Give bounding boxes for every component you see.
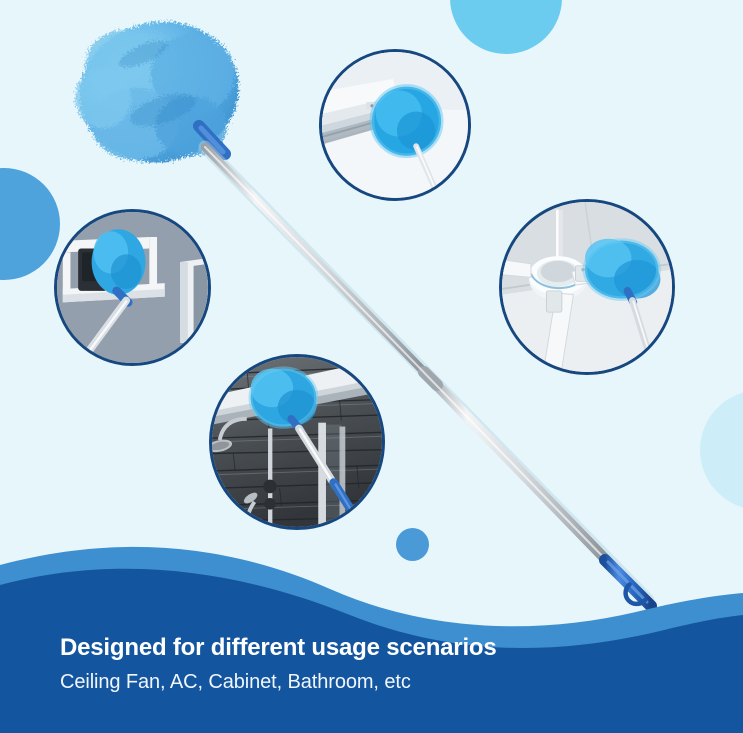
- right-edge-circle: [700, 390, 743, 510]
- inset-cabinet: [54, 209, 211, 366]
- pole-joint-collar: [424, 372, 437, 385]
- caption-banner: Designed for different usage scenarios C…: [0, 615, 743, 733]
- ceiling-fan-photo: [502, 202, 672, 372]
- duster-head: [73, 14, 253, 179]
- air-conditioner-photo: [322, 52, 468, 198]
- bathroom-photo: [212, 357, 382, 527]
- duster-connector: [191, 114, 261, 184]
- caption-title: Designed for different usage scenarios: [60, 633, 743, 663]
- caption-subtitle: Ceiling Fan, AC, Cabinet, Bathroom, etc: [60, 669, 743, 696]
- left-edge-circle: [0, 168, 60, 280]
- top-circle: [450, 0, 562, 54]
- cabinet-photo: [57, 212, 208, 363]
- inset-ceiling-fan: [499, 199, 675, 375]
- product-poster: Designed for different usage scenarios C…: [0, 0, 743, 733]
- inset-air-conditioner: [319, 49, 471, 201]
